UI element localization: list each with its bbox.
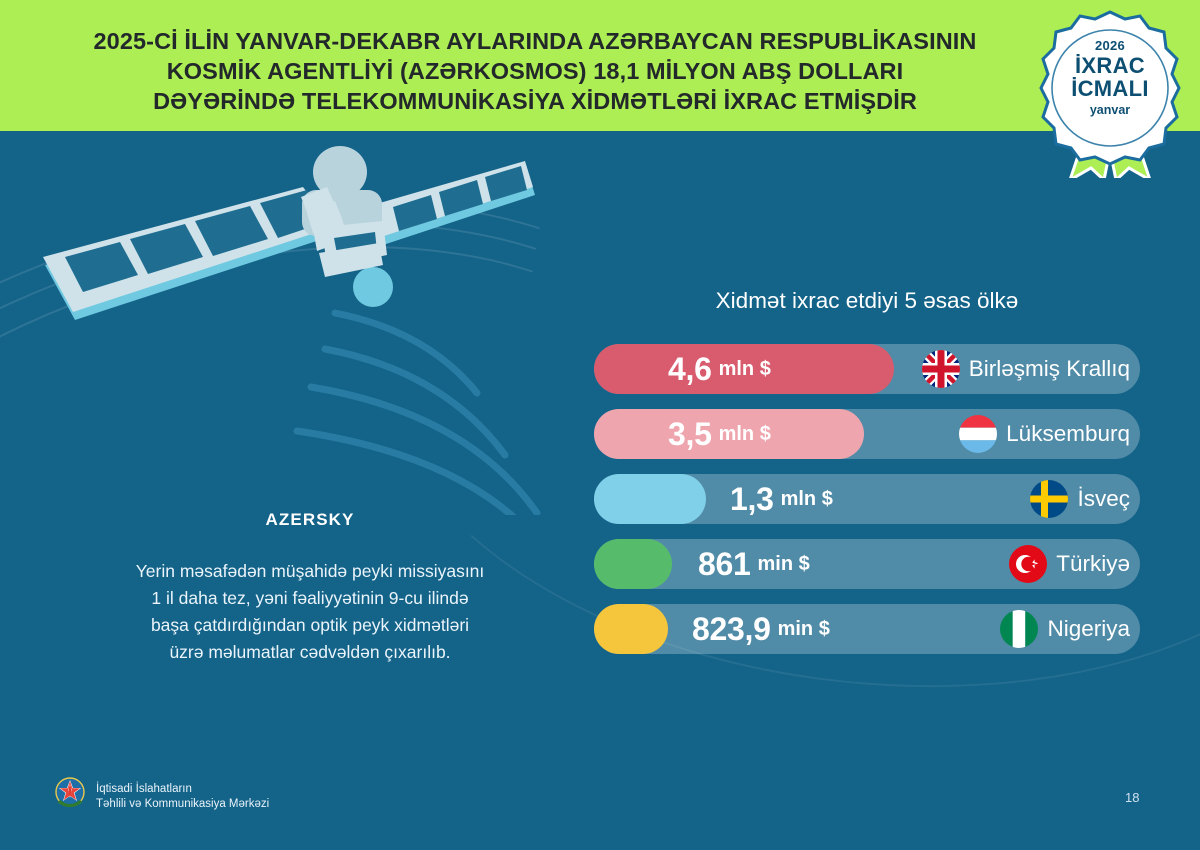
- bar-value: 823,9: [692, 611, 771, 648]
- flag-nigeria-icon: [1000, 610, 1038, 648]
- footer-organization: İqtisadi İslahatların Təhlili və Kommuni…: [96, 782, 269, 812]
- azersky-description-line-4: üzrə məlumatlar cədvəldən çıxarılıb.: [60, 639, 560, 666]
- bar-country-group: Türkiyə: [1009, 539, 1130, 589]
- footer-org-line-2: Təhlili və Kommunikasiya Mərkəzi: [96, 797, 269, 812]
- azersky-description: Yerin məsafədən müşahidə peyki missiyası…: [60, 558, 560, 666]
- satellite-icon: [35, 135, 555, 515]
- bar-value-group: 3,5 mln $: [668, 409, 771, 459]
- bar-country-name: Nigeriya: [1047, 616, 1130, 642]
- azersky-description-line-2: 1 il daha tez, yəni fəaliyyətinin 9-cu i…: [60, 585, 560, 612]
- bar-country-name: Türkiyə: [1056, 551, 1130, 577]
- bar-fill: [594, 474, 706, 524]
- page-title-line-3: DƏYƏRİNDƏ TELEKOMMUNİKASİYA XİDMƏTLƏRİ İ…: [40, 86, 1030, 116]
- export-review-badge: 2026 İXRAC İCMALI yanvar: [1030, 8, 1190, 178]
- bar-value-group: 1,3 mln $: [730, 474, 833, 524]
- bar-fill: [594, 539, 672, 589]
- page-title-line-1: 2025-Cİ İLİN YANVAR-DEKABR AYLARINDA AZƏ…: [40, 26, 1030, 56]
- bar-unit: min $: [758, 553, 810, 576]
- azersky-description-line-1: Yerin məsafədən müşahidə peyki missiyası…: [60, 558, 560, 585]
- bar-country-name: Birləşmiş Krallıq: [969, 356, 1130, 382]
- page-number: 18: [1125, 790, 1139, 805]
- bar-row: 4,6 mln $ Birləşmiş Krallıq: [594, 344, 1140, 394]
- bar-row: 861 min $ Türkiyə: [594, 539, 1140, 589]
- bar-country-group: Lüksemburq: [959, 409, 1130, 459]
- bar-country-group: Nigeriya: [1000, 604, 1130, 654]
- bar-row: 1,3 mln $ İsveç: [594, 474, 1140, 524]
- flag-sweden-icon: [1030, 480, 1068, 518]
- bar-value: 3,5: [668, 416, 712, 453]
- page-title-line-2: KOSMİK AGENTLİYİ (AZƏRKOSMOS) 18,1 MİLYO…: [40, 56, 1030, 86]
- bar-fill: [594, 604, 668, 654]
- bar-value: 1,3: [730, 481, 774, 518]
- bar-chart: 4,6 mln $ Birləşmiş Krallıq: [594, 344, 1140, 669]
- bar-row: 3,5 mln $ Lüksemburq: [594, 409, 1140, 459]
- flag-united-kingdom-icon: [922, 350, 960, 388]
- bar-unit: mln $: [719, 358, 771, 381]
- azersky-heading: AZERSKY: [60, 510, 560, 530]
- page-title: 2025-Cİ İLİN YANVAR-DEKABR AYLARINDA AZƏ…: [40, 26, 1030, 116]
- footer-org-line-1: İqtisadi İslahatların: [96, 782, 269, 797]
- flag-luxembourg-icon: [959, 415, 997, 453]
- bar-row: 823,9 min $ Nigeriya: [594, 604, 1140, 654]
- bar-country-group: Birləşmiş Krallıq: [922, 344, 1130, 394]
- bar-country-group: İsveç: [1030, 474, 1130, 524]
- bar-unit: mln $: [719, 423, 771, 446]
- bar-value: 861: [698, 546, 751, 583]
- badge-rosette-icon: [1030, 8, 1190, 178]
- bar-value-group: 4,6 mln $: [668, 344, 771, 394]
- bar-country-name: İsveç: [1077, 486, 1130, 512]
- bar-value: 4,6: [668, 351, 712, 388]
- flag-turkey-icon: [1009, 545, 1047, 583]
- bar-country-name: Lüksemburq: [1006, 421, 1130, 447]
- azersky-description-line-3: başa çatdırdığından optik peyk xidmətlər…: [60, 612, 560, 639]
- infographic-page: 2025-Cİ İLİN YANVAR-DEKABR AYLARINDA AZƏ…: [0, 0, 1200, 850]
- bar-value-group: 823,9 min $: [692, 604, 830, 654]
- azerbaijan-state-emblem-icon: [52, 776, 88, 814]
- bar-value-group: 861 min $: [698, 539, 810, 589]
- chart-title: Xidmət ixrac etdiyi 5 əsas ölkə: [594, 288, 1140, 314]
- bar-unit: min $: [778, 618, 830, 641]
- bar-unit: mln $: [781, 488, 833, 511]
